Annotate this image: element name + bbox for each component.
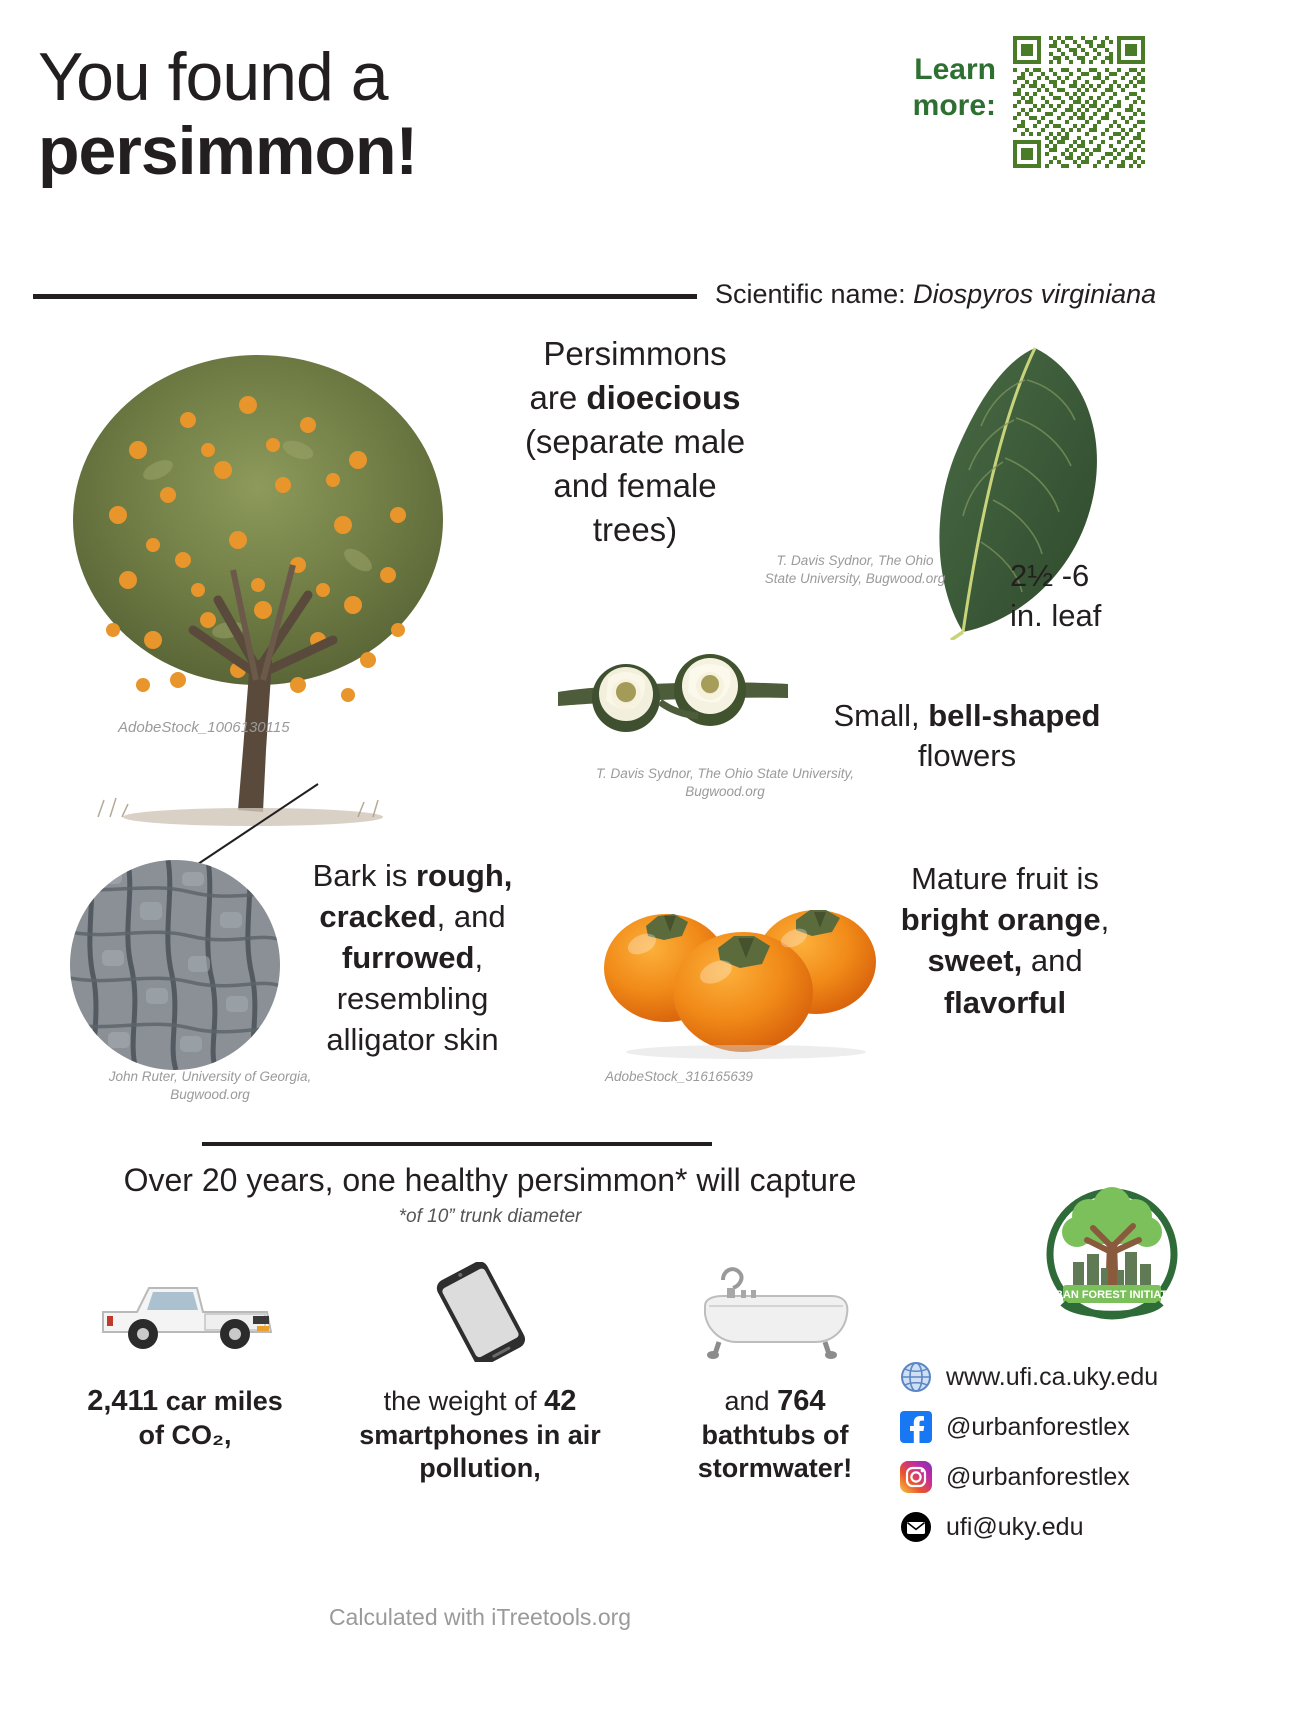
fruit-text-plain-1: Mature fruit is: [911, 861, 1099, 896]
benefit-value-car: 2,411: [87, 1385, 158, 1417]
dioecious-keyword: dioecious: [586, 379, 740, 416]
title-line-1: You found a: [38, 42, 778, 113]
smartphone-icon: [335, 1262, 625, 1362]
instagram-icon: [900, 1461, 932, 1493]
benefit-prefix-bathtubs: and: [725, 1386, 778, 1416]
benefit-prefix-smartphones: the weight of: [384, 1386, 545, 1416]
flowers-description: Small, bell-shaped flowers: [832, 696, 1102, 777]
divider-top: [33, 294, 697, 299]
fruit-text-plain-3: and: [1022, 943, 1082, 978]
dioecious-line-2-plain: are: [530, 379, 587, 416]
globe-icon: [900, 1361, 932, 1393]
bark-text-bold-2: furrowed: [342, 940, 475, 975]
benefit-item-bathtubs: and 764 bathtubs of stormwater!: [630, 1262, 920, 1485]
leaf-size-line-2: in. leaf: [1010, 598, 1101, 633]
persimmon-fruit-photo: [598, 880, 888, 1060]
bathtub-icon: [630, 1262, 920, 1362]
dioecious-text: Persimmons are dioecious (separate male …: [470, 332, 800, 551]
flower-photo-credit: T. Davis Sydnor, The Ohio State Universi…: [580, 765, 870, 801]
tree-photo-credit: AdobeStock_1006130115: [118, 718, 348, 738]
dioecious-line-5: trees): [593, 511, 677, 548]
bark-photo-credit: John Ruter, University of Georgia, Bugwo…: [95, 1068, 325, 1104]
contact-email-text: ufi@uky.edu: [946, 1513, 1084, 1542]
persimmon-flower-photo: [548, 640, 798, 770]
scientific-name-binomial: Diospyros virginiana: [913, 279, 1156, 309]
benefit-line3-smartphones: pollution,: [419, 1453, 540, 1483]
benefits-stats: 2,411 car miles of CO₂, the weight of 42…: [40, 1262, 920, 1492]
contact-instagram-text: @urbanforestlex: [946, 1463, 1130, 1492]
scientific-name: Scientific name: Diospyros virginiana: [715, 279, 1156, 310]
benefit-unit-car: car miles: [158, 1386, 283, 1416]
flowers-text-plain-2: flowers: [918, 738, 1016, 773]
benefits-footnote: *of 10” trunk diameter: [40, 1206, 940, 1228]
fruit-photo-credit: AdobeStock_316165639: [605, 1068, 835, 1086]
benefit-value-bathtubs: 764: [777, 1385, 825, 1417]
scientific-name-prefix: Scientific name:: [715, 279, 913, 309]
flowers-text-plain-1: Small,: [833, 698, 928, 733]
ufi-tree-logo-icon: URBAN FOREST INITIATIVE: [1037, 1182, 1187, 1332]
facebook-icon: [900, 1411, 932, 1443]
email-icon: [900, 1511, 932, 1543]
dioecious-line-4: and female: [553, 467, 716, 504]
pickup-truck-icon: [40, 1262, 330, 1362]
bark-photo: [70, 860, 280, 1070]
leaf-size-label: 2½ -6 in. leaf: [1010, 556, 1160, 635]
contact-facebook-text: @urbanforestlex: [946, 1413, 1130, 1442]
benefit-label-smartphones: the weight of 42 smartphones in air poll…: [335, 1384, 625, 1485]
contact-list: www.ufi.ca.uky.edu @urbanforestlex: [900, 1356, 1280, 1556]
persimmon-tree-photo: [58, 330, 468, 830]
leaf-size-line-1: 2½ -6: [1010, 558, 1089, 593]
learn-more-text: Learn more:: [913, 53, 996, 122]
benefit-label-bathtubs: and 764 bathtubs of stormwater!: [630, 1384, 920, 1485]
contact-website[interactable]: www.ufi.ca.uky.edu: [900, 1356, 1280, 1398]
benefit-line2-car: of CO₂,: [139, 1420, 232, 1450]
dioecious-line-3: (separate male: [525, 423, 745, 460]
fruit-text-plain-2: ,: [1101, 902, 1110, 937]
fruit-text-bold-2: sweet,: [927, 943, 1022, 978]
calculation-source: Calculated with iTreetools.org: [40, 1604, 920, 1631]
infographic-page: You found a persimmon! Learn more:: [0, 0, 1296, 1728]
contact-email[interactable]: ufi@uky.edu: [900, 1506, 1280, 1548]
page-title: You found a persimmon!: [38, 42, 778, 190]
bark-text-plain-1: Bark is: [313, 858, 416, 893]
bark-description: Bark is rough, cracked, and furrowed, re…: [280, 856, 545, 1061]
title-line-2: persimmon!: [38, 113, 778, 189]
benefit-label-car: 2,411 car miles of CO₂,: [40, 1384, 330, 1452]
contact-instagram[interactable]: @urbanforestlex: [900, 1456, 1280, 1498]
ufi-logo-text: URBAN FOREST INITIATIVE: [1039, 1289, 1185, 1301]
contact-website-text: www.ufi.ca.uky.edu: [946, 1363, 1158, 1392]
fruit-description: Mature fruit is bright orange, sweet, an…: [890, 858, 1120, 1023]
benefit-value-smartphones: 42: [544, 1385, 576, 1417]
dioecious-line-1: Persimmons: [543, 335, 726, 372]
learn-more-label: Learn more:: [866, 52, 996, 124]
qr-code-icon[interactable]: [1013, 36, 1145, 168]
fruit-text-bold-3: flavorful: [944, 985, 1066, 1020]
benefit-line2-smartphones: smartphones in air: [359, 1420, 601, 1450]
leaf-photo-credit: T. Davis Sydnor, The Ohio State Universi…: [760, 552, 950, 588]
benefits-headline: Over 20 years, one healthy persimmon* wi…: [40, 1162, 940, 1199]
fruit-text-bold-1: bright orange: [901, 902, 1101, 937]
flowers-text-bold: bell-shaped: [928, 698, 1100, 733]
contact-facebook[interactable]: @urbanforestlex: [900, 1406, 1280, 1448]
bark-text-plain-2: , and: [437, 899, 506, 934]
divider-middle: [202, 1142, 712, 1146]
benefit-line3-bathtubs: stormwater!: [698, 1453, 853, 1483]
benefit-line2-bathtubs: bathtubs of: [702, 1420, 849, 1450]
benefit-item-smartphones: the weight of 42 smartphones in air poll…: [335, 1262, 625, 1485]
benefit-item-car: 2,411 car miles of CO₂,: [40, 1262, 330, 1452]
